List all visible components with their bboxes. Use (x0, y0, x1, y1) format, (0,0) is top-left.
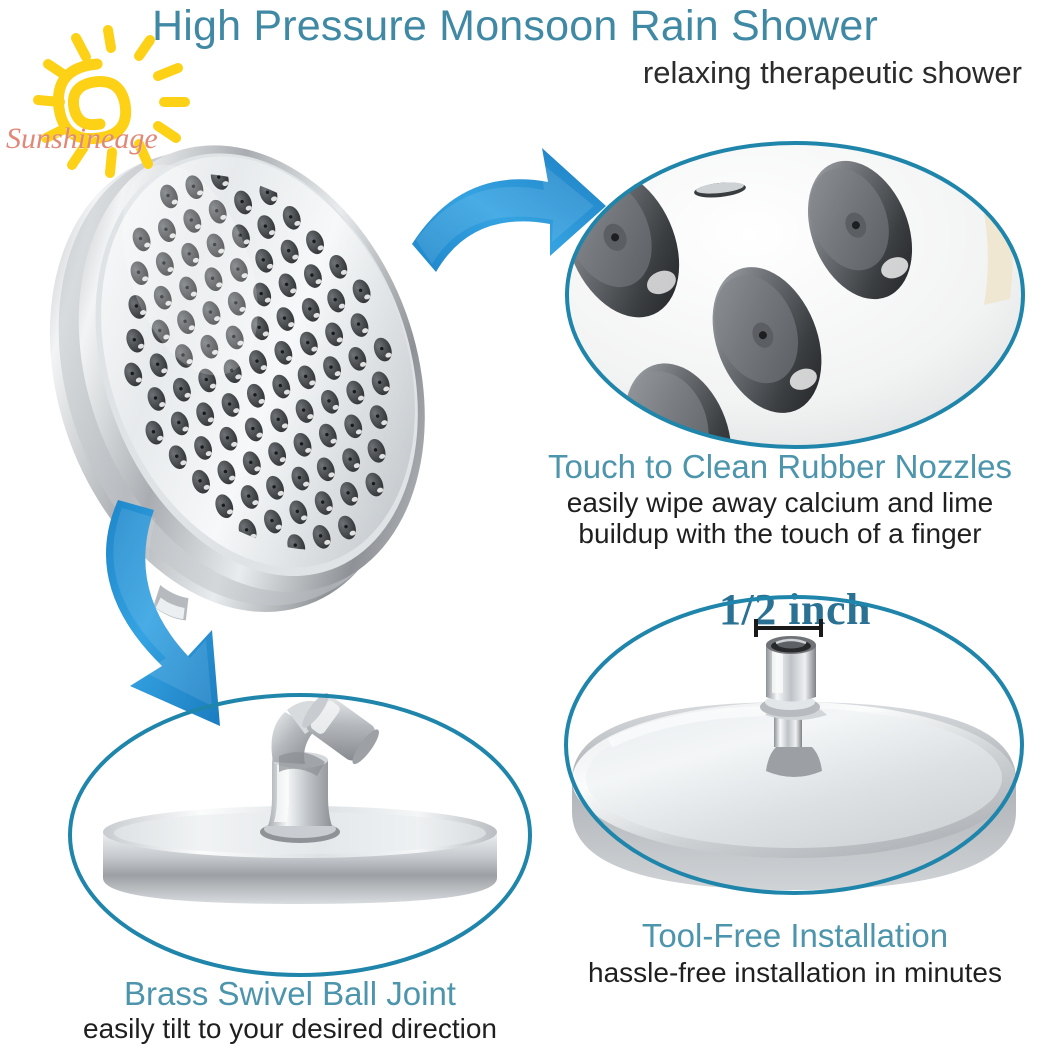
swivel-caption-heading: Brass Swivel Ball Joint (30, 975, 550, 1013)
dimension-bar (755, 619, 822, 637)
brand-name: Sunshineage (6, 122, 158, 156)
nozzles-caption-line1: easily wipe away calcium and lime (512, 487, 1048, 518)
nozzles-caption-line2: buildup with the touch of a finger (512, 518, 1048, 549)
rubber-nozzle-closeup-icon (560, 135, 1030, 455)
swivel-caption-body: easily tilt to your desired direction (30, 1013, 550, 1044)
swivel-ball-joint-icon (55, 690, 545, 980)
install-caption-body: hassle-free installation in minutes (545, 957, 1045, 988)
install-caption-heading: Tool-Free Installation (545, 917, 1045, 955)
page-subtitle: relaxing therapeutic shower (0, 55, 1022, 91)
nozzles-caption-body: easily wipe away calcium and lime buildu… (512, 487, 1048, 550)
infographic-canvas: High Pressure Monsoon Rain Shower relaxi… (0, 0, 1050, 1050)
threaded-inlet-icon (550, 575, 1040, 910)
nozzles-caption-heading: Touch to Clean Rubber Nozzles (510, 448, 1050, 486)
page-title: High Pressure Monsoon Rain Shower (0, 2, 1030, 51)
